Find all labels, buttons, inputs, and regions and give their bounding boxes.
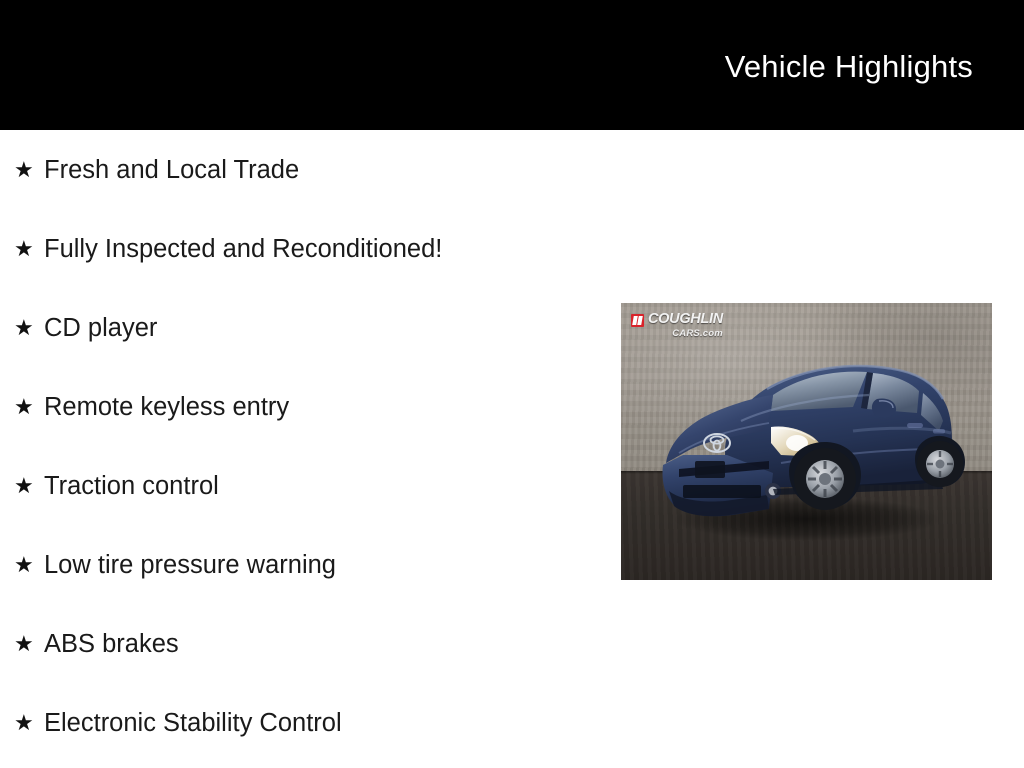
list-item-label: Traction control: [44, 471, 219, 501]
list-item: ★ ABS brakes: [0, 604, 600, 683]
list-item: ★ Low tire pressure warning: [0, 525, 600, 604]
list-item: ★ Fully Inspected and Reconditioned!: [0, 209, 600, 288]
star-icon: ★: [14, 712, 44, 734]
star-icon: ★: [14, 317, 44, 339]
star-icon: ★: [14, 159, 44, 181]
car-illustration: [621, 303, 992, 580]
dealer-watermark: COUGHLIN CARS.com: [631, 312, 723, 338]
star-icon: ★: [14, 396, 44, 418]
list-item: ★ CD player: [0, 288, 600, 367]
star-icon: ★: [14, 475, 44, 497]
list-item-label: Fresh and Local Trade: [44, 155, 299, 185]
vehicle-highlights-list: ★ Fresh and Local Trade ★ Fully Inspecte…: [0, 130, 600, 762]
watermark-text: COUGHLIN CARS.com: [648, 312, 723, 338]
page-header: Vehicle Highlights: [0, 0, 1024, 130]
page-title: Vehicle Highlights: [725, 49, 973, 85]
coughlin-logo-icon: [631, 314, 644, 327]
list-item: ★ Fresh and Local Trade: [0, 130, 600, 209]
star-icon: ★: [14, 633, 44, 655]
list-item-label: Fully Inspected and Reconditioned!: [44, 234, 442, 264]
list-item-label: Low tire pressure warning: [44, 550, 336, 580]
star-icon: ★: [14, 554, 44, 576]
list-item-label: ABS brakes: [44, 629, 179, 659]
watermark-subtitle: CARS.com: [648, 329, 723, 339]
vehicle-photo: COUGHLIN CARS.com: [621, 303, 992, 580]
watermark-brand: COUGHLIN: [648, 312, 723, 327]
list-item-label: CD player: [44, 313, 157, 343]
list-item: ★ Electronic Stability Control: [0, 683, 600, 762]
list-item-label: Remote keyless entry: [44, 392, 289, 422]
list-item: ★ Traction control: [0, 446, 600, 525]
list-item: ★ Remote keyless entry: [0, 367, 600, 446]
list-item-label: Electronic Stability Control: [44, 708, 342, 738]
star-icon: ★: [14, 238, 44, 260]
